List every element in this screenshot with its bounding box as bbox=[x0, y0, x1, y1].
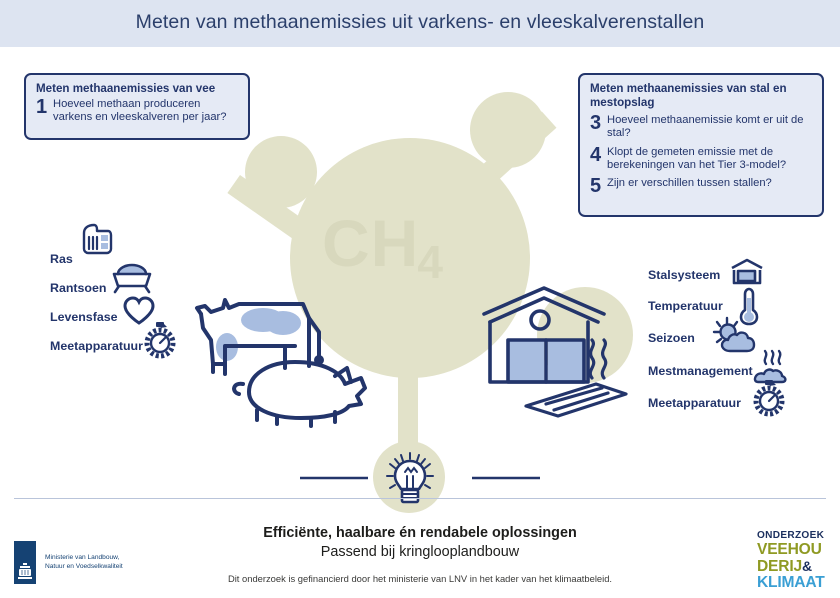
feed-trough-icon bbox=[110, 262, 154, 294]
cow-and-pig-icon bbox=[185, 292, 375, 417]
question-item: 4 Klopt de gemeten emissie met de bereke… bbox=[590, 146, 813, 172]
research-logo-line4: KLIMAAT bbox=[757, 575, 829, 591]
footer-subline: Passend bij kringlooplandbouw bbox=[0, 544, 840, 560]
question-text: Klopt de gemeten emissie met de berekeni… bbox=[606, 146, 813, 172]
question-item: 1 Hoeveel methaan produceren varkens en … bbox=[36, 98, 239, 124]
footer-divider bbox=[14, 498, 826, 499]
research-logo-line1: ONDERZOEK bbox=[757, 531, 829, 541]
ch4-formula-main: CH bbox=[322, 206, 419, 280]
question-number: 4 bbox=[590, 147, 606, 163]
question-number: 1 bbox=[36, 99, 52, 115]
factor-label-stalsysteem: Stalsysteem bbox=[648, 268, 720, 282]
ministry-logo-line1: Ministerie van Landbouw, bbox=[45, 554, 123, 562]
right-box-heading: Meten methaanemissies van stal en mestop… bbox=[590, 82, 813, 109]
barn-with-manure-storage-icon bbox=[474, 286, 646, 418]
sun-cloud-icon bbox=[714, 318, 756, 354]
ministry-logo: Ministerie van Landbouw, Natuur en Voeds… bbox=[14, 541, 123, 584]
research-program-logo: ONDERZOEK VEEHOU DERIJ& KLIMAAT bbox=[757, 531, 829, 591]
factor-label-mestmanagement: Mestmanagement bbox=[648, 364, 753, 378]
question-item: 5 Zijn er verschillen tussen stallen? bbox=[590, 177, 813, 194]
research-logo-line2: VEEHOU bbox=[757, 542, 829, 558]
question-text: Hoeveel methaan produceren varkens en vl… bbox=[52, 98, 239, 124]
footer-fineprint: Dit onderzoek is gefinancierd door het m… bbox=[0, 573, 840, 584]
question-box-livestock: Meten methaanemissies van vee 1 Hoeveel … bbox=[24, 73, 250, 140]
factor-label-seizoen: Seizoen bbox=[648, 331, 695, 345]
infographic-canvas: Meten van methaanemissies uit varkens- e… bbox=[0, 0, 840, 598]
question-text: Zijn er verschillen tussen stallen? bbox=[606, 177, 772, 190]
ministry-crest-icon bbox=[17, 563, 33, 581]
lightbulb-connector-lines bbox=[300, 476, 540, 480]
manure-steam-icon bbox=[754, 348, 788, 384]
question-number: 3 bbox=[590, 115, 606, 131]
left-box-heading: Meten methaanemissies van vee bbox=[36, 82, 239, 96]
factor-label-rantsoen: Rantsoen bbox=[50, 281, 106, 295]
factor-label-levensfase: Levensfase bbox=[50, 310, 118, 324]
factor-label-meetapparatuur-right: Meetapparatuur bbox=[648, 396, 741, 410]
question-box-barn: Meten methaanemissies van stal en mestop… bbox=[578, 73, 824, 217]
stopwatch-icon bbox=[143, 322, 177, 358]
barn-icon bbox=[730, 258, 764, 286]
ministry-logo-text: Ministerie van Landbouw, Natuur en Voeds… bbox=[45, 554, 123, 571]
ch4-formula: CH4 bbox=[322, 205, 446, 281]
stopwatch-icon bbox=[752, 380, 786, 416]
factor-label-ras: Ras bbox=[50, 252, 73, 266]
footer-headline: Efficiënte, haalbare én rendabele oploss… bbox=[0, 525, 840, 541]
ch4-formula-sub: 4 bbox=[417, 236, 444, 288]
question-item: 3 Hoeveel methaanemissie komt er uit de … bbox=[590, 114, 813, 140]
ear-tag-icon bbox=[78, 224, 112, 254]
research-logo-line3: DERIJ& bbox=[757, 559, 829, 575]
ministry-logo-line2: Natuur en Voedselkwaliteit bbox=[45, 563, 123, 571]
ministry-logo-bar bbox=[14, 541, 36, 584]
research-logo-ampersand: & bbox=[802, 558, 812, 574]
research-logo-derij: DERIJ bbox=[757, 558, 802, 575]
question-text: Hoeveel methaanemissie komt er uit de st… bbox=[606, 114, 813, 140]
factor-label-meetapparatuur-left: Meetapparatuur bbox=[50, 339, 143, 353]
factor-label-temperatuur: Temperatuur bbox=[648, 299, 723, 313]
page-title: Meten van methaanemissies uit varkens- e… bbox=[0, 11, 840, 34]
question-number: 5 bbox=[590, 178, 606, 194]
